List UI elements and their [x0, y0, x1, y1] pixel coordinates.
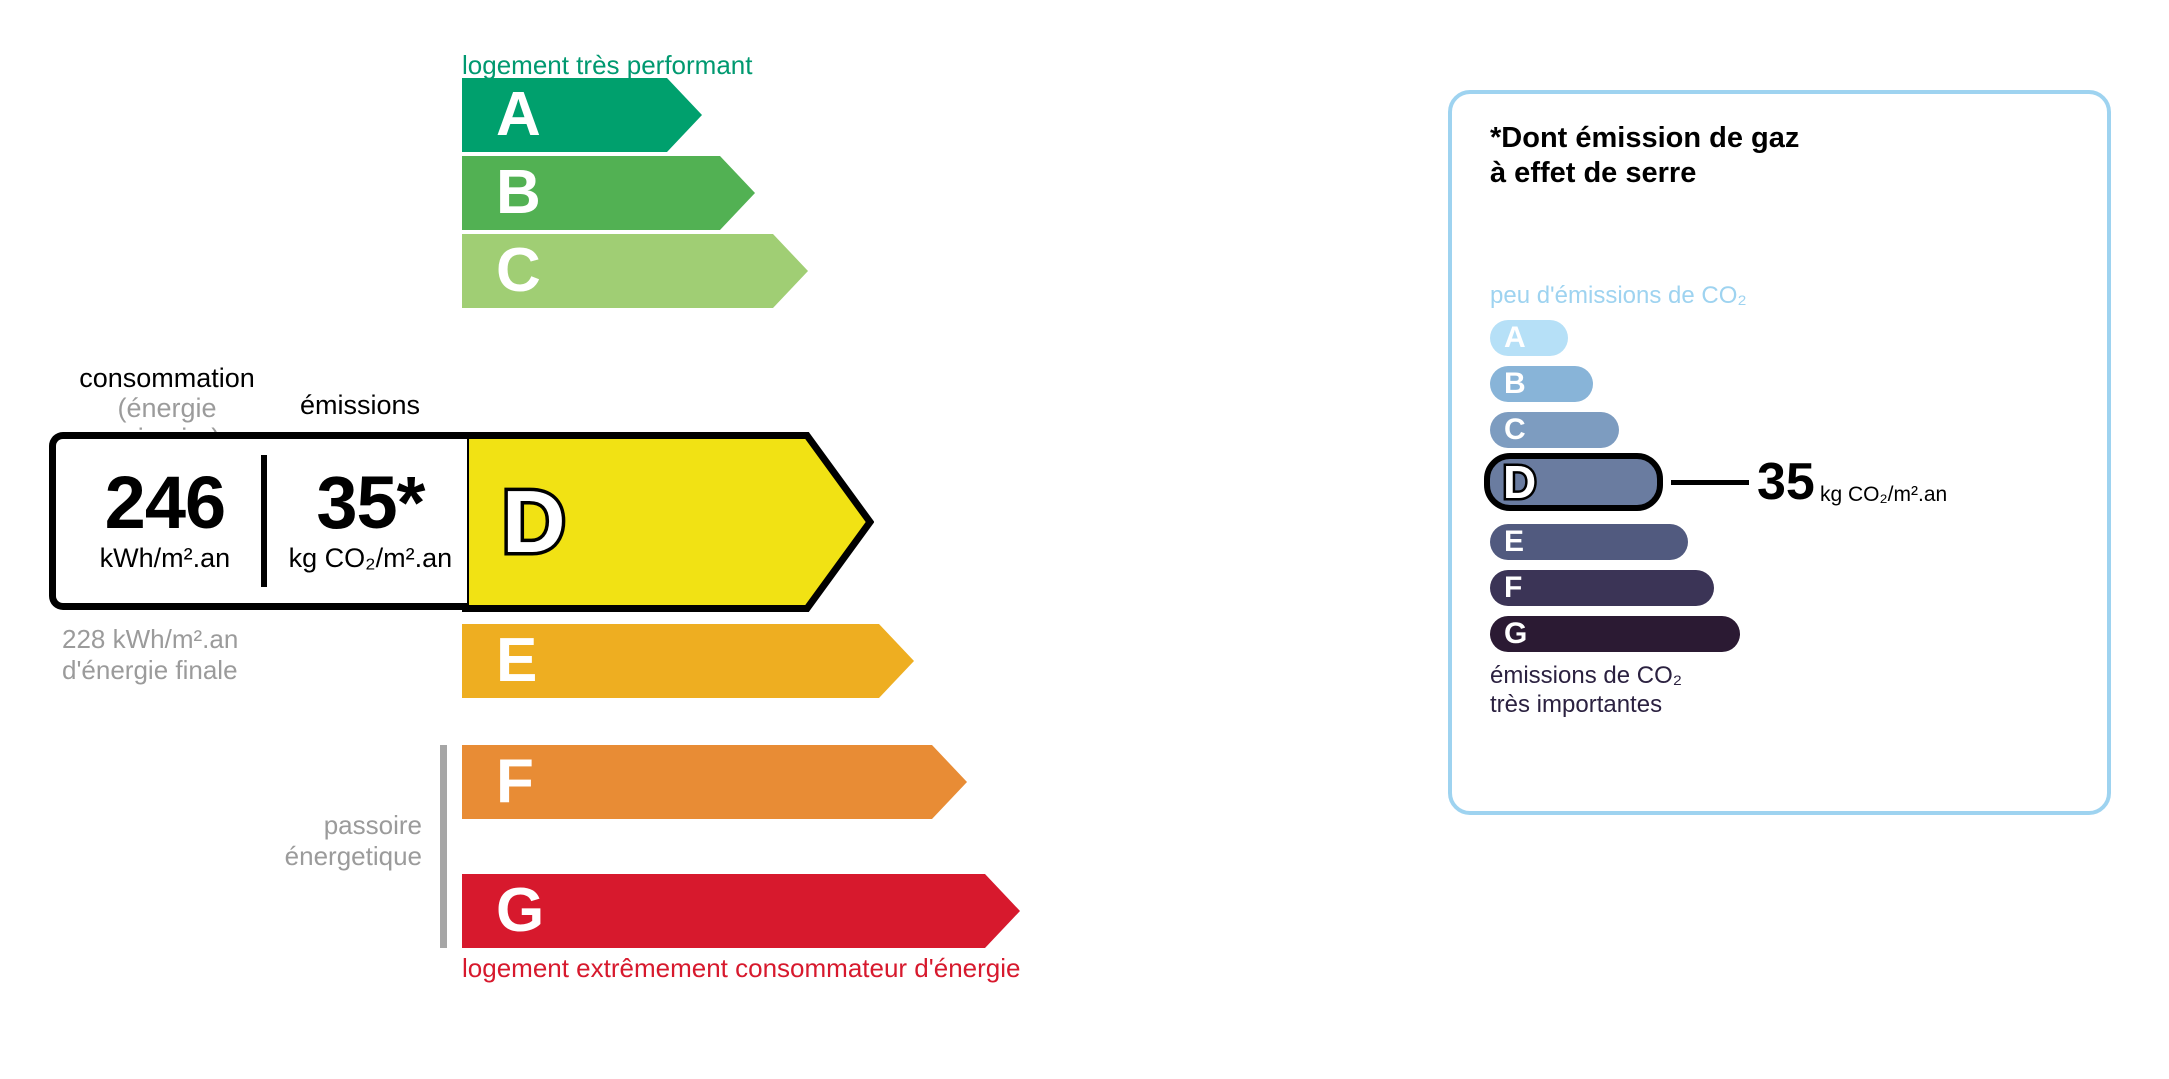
- co2-row-d-selected[interactable]: D: [1484, 453, 1663, 511]
- energy-band-c[interactable]: C: [462, 234, 808, 308]
- passoire-label: passoire énergetique: [200, 810, 422, 872]
- co2-row-g-letter: G: [1504, 619, 1527, 649]
- energy-top-caption: logement très performant: [462, 50, 752, 81]
- energy-band-g-shape: [462, 874, 1020, 948]
- final-energy-note: 228 kWh/m².an d'énergie finale: [62, 624, 238, 686]
- value-box-divider: [261, 455, 267, 587]
- co2-row-a-letter: A: [1504, 323, 1526, 353]
- passoire-label-line1: passoire: [200, 810, 422, 841]
- energy-bottom-caption: logement extrêmement consommateur d'éner…: [462, 953, 1020, 984]
- co2-bottom-caption-line2: très importantes: [1490, 691, 1682, 720]
- passoire-marker-bar: [440, 745, 447, 948]
- energy-band-e[interactable]: E: [462, 624, 914, 698]
- co2-title-line1: *Dont émission de gaz: [1490, 121, 1799, 156]
- final-energy-line1: 228 kWh/m².an: [62, 624, 238, 655]
- energy-band-g[interactable]: G: [462, 874, 1020, 948]
- consumption-value: 246: [56, 468, 274, 538]
- co2-row-b[interactable]: B: [1490, 366, 1593, 402]
- co2-row-e-letter: E: [1504, 527, 1524, 557]
- final-energy-line2: d'énergie finale: [62, 655, 238, 686]
- energy-band-d-letter: D: [502, 478, 566, 566]
- co2-emission-panel: *Dont émission de gaz à effet de serre p…: [1448, 90, 2111, 815]
- consumption-header-main: consommation: [79, 363, 255, 393]
- energy-band-f[interactable]: F: [462, 745, 967, 819]
- co2-row-c[interactable]: C: [1490, 412, 1619, 448]
- co2-row-f-letter: F: [1504, 573, 1522, 603]
- co2-row-c-letter: C: [1504, 415, 1526, 445]
- consumption-cell: 246 kWh/m².an: [56, 468, 274, 574]
- co2-row-e[interactable]: E: [1490, 524, 1688, 560]
- energy-band-b-letter: B: [496, 162, 541, 224]
- emission-cell: 35* kg CO₂/m².an: [274, 468, 467, 574]
- co2-bottom-caption-line1: émissions de CO₂: [1490, 662, 1682, 691]
- energy-band-d-selected[interactable]: D: [462, 432, 874, 612]
- energy-band-e-letter: E: [496, 630, 537, 692]
- passoire-label-line2: énergetique: [200, 841, 422, 872]
- energy-band-b[interactable]: B: [462, 156, 755, 230]
- co2-leader-line: [1671, 480, 1749, 485]
- co2-row-b-letter: B: [1504, 369, 1526, 399]
- energy-band-a[interactable]: A: [462, 78, 702, 152]
- energy-band-f-shape: [462, 745, 967, 819]
- energy-band-a-letter: A: [496, 84, 541, 146]
- emission-value: 35*: [274, 468, 467, 538]
- co2-row-g[interactable]: G: [1490, 616, 1740, 652]
- co2-value: 35: [1757, 456, 1815, 508]
- co2-title-line2: à effet de serre: [1490, 156, 1799, 191]
- consumption-unit: kWh/m².an: [56, 544, 274, 574]
- co2-row-a[interactable]: A: [1490, 320, 1568, 356]
- co2-row-f[interactable]: F: [1490, 570, 1714, 606]
- co2-bottom-caption: émissions de CO₂ très importantes: [1490, 662, 1682, 720]
- energy-band-c-letter: C: [496, 240, 541, 302]
- energy-performance-scale: logement très performant A B C D E: [0, 0, 1400, 1079]
- co2-row-d-letter: D: [1503, 459, 1536, 505]
- co2-value-unit: kg CO₂/m².an: [1820, 484, 1947, 505]
- energy-value-box: 246 kWh/m².an 35* kg CO₂/m².an: [49, 432, 467, 610]
- emission-unit: kg CO₂/m².an: [274, 544, 467, 574]
- co2-top-caption: peu d'émissions de CO₂: [1490, 282, 1747, 310]
- co2-panel-title: *Dont émission de gaz à effet de serre: [1490, 121, 1799, 192]
- emissions-header: émissions: [300, 390, 420, 420]
- energy-band-g-letter: G: [496, 880, 544, 942]
- energy-band-f-letter: F: [496, 751, 534, 813]
